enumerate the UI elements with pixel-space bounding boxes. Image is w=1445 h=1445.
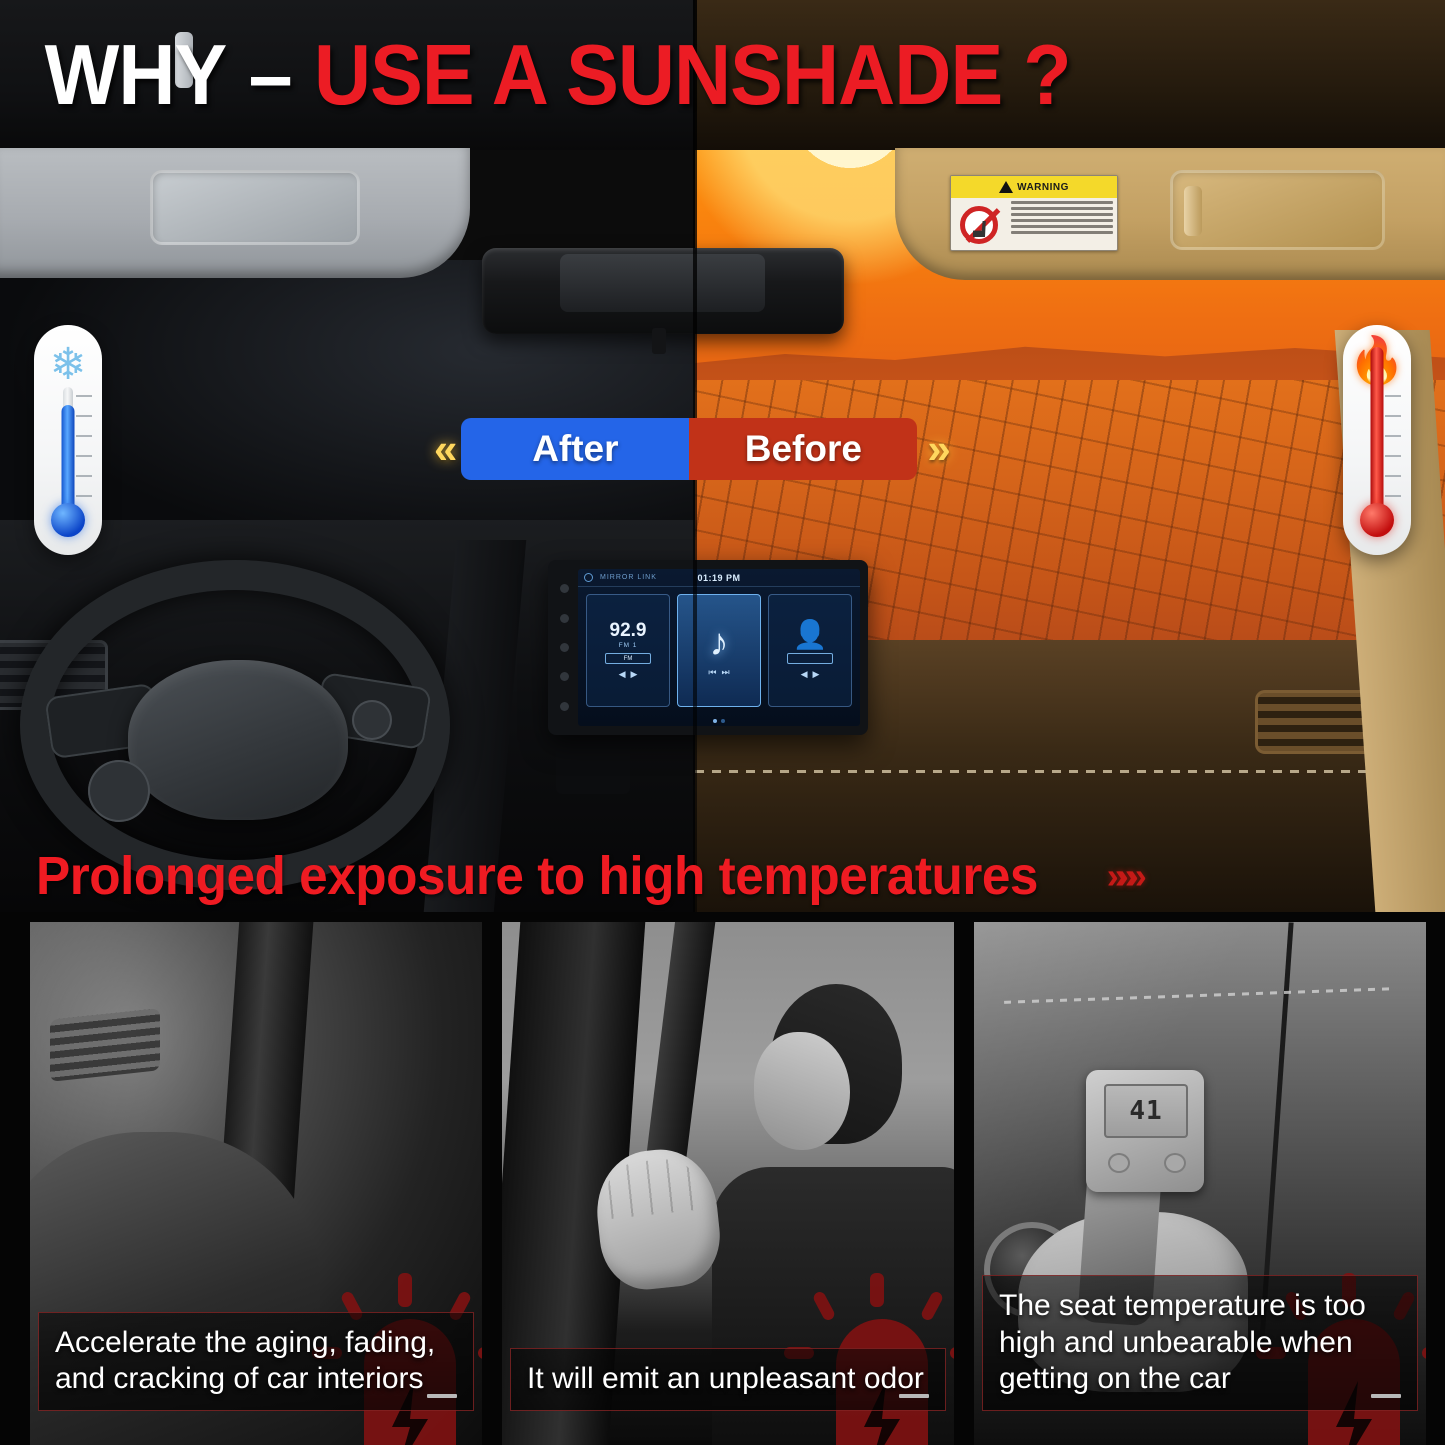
thermometer-fill-hot — [1371, 347, 1384, 515]
panel-seat-temperature: 41 The seat temperature is too high and … — [974, 922, 1426, 1445]
thermometer-bulb-hot — [1360, 503, 1394, 537]
headline-chevrons-icon: »»» — [1107, 855, 1137, 897]
thermometer-bulb-cold — [51, 503, 85, 537]
hot-thermometer: 🔥 — [1343, 325, 1411, 555]
rearview-mirror-housing — [560, 254, 765, 312]
caption-dash-3 — [1371, 1394, 1401, 1398]
warning-label-fineprint — [1007, 198, 1117, 251]
menu-button[interactable] — [560, 702, 569, 711]
panel-caption-text-3: The seat temperature is too high and unb… — [999, 1288, 1403, 1398]
steering-wheel-dpad — [88, 760, 150, 822]
person-face-2 — [754, 1032, 850, 1150]
benefit-panels: Accelerate the aging, fading, and cracki… — [0, 912, 1445, 1445]
panel-caption-2: It will emit an unpleasant odor — [510, 1348, 946, 1411]
panel-caption-text-1: Accelerate the aging, fading, and cracki… — [55, 1325, 459, 1398]
right-chevron-icon: » — [917, 428, 954, 470]
thermometer-ticks-hot — [1385, 395, 1401, 501]
steering-wheel-cruise-button — [352, 700, 392, 740]
cold-thermometer: ❄ — [34, 325, 102, 555]
person-icon: 👤 — [793, 621, 828, 649]
radio-frequency: 92.9 — [610, 621, 647, 640]
volume-button[interactable] — [560, 643, 569, 652]
panel-caption-text-2: It will emit an unpleasant odor — [527, 1361, 931, 1398]
media-transport-controls[interactable]: ⏮ ⏭ — [708, 667, 729, 678]
panel-interior-aging: Accelerate the aging, fading, and cracki… — [30, 922, 482, 1445]
power-button[interactable] — [560, 584, 569, 593]
warning-label-pictogram — [951, 198, 1007, 251]
page-indicator-dots[interactable] — [578, 719, 860, 723]
title-lead: WHY — [45, 33, 227, 118]
infotainment-head-unit[interactable]: MIRROR LINK 01:19 PM 92.9 FM 1 FM ◀ ▶ ♪ … — [548, 560, 868, 735]
head-unit-screen[interactable]: MIRROR LINK 01:19 PM 92.9 FM 1 FM ◀ ▶ ♪ … — [578, 569, 860, 726]
hero-split-comparison: WARNING — [0, 0, 1445, 912]
before-after-badges: « After Before » — [424, 418, 955, 480]
radio-tile[interactable]: 92.9 FM 1 FM ◀ ▶ — [586, 594, 670, 707]
profile-nav-controls[interactable]: ◀ ▶ — [801, 669, 820, 680]
radio-preset-button[interactable]: FM — [605, 653, 651, 664]
title-rest: USE A SUNSHADE ? — [314, 33, 1071, 118]
home-button[interactable] — [560, 614, 569, 623]
warning-label-body — [951, 198, 1117, 251]
thermometer-buttons[interactable] — [1108, 1146, 1186, 1180]
profile-tile[interactable]: 👤 ◀ ▶ — [768, 594, 852, 707]
head-unit-brand-label: MIRROR LINK — [600, 574, 657, 581]
steering-wheel-airbag-hub — [128, 660, 348, 820]
panel-caption-3: The seat temperature is too high and unb… — [982, 1275, 1418, 1411]
seat-stitching-3 — [1004, 987, 1396, 1004]
left-chevron-icon: « — [424, 428, 461, 470]
head-unit-tiles: 92.9 FM 1 FM ◀ ▶ ♪ ⏮ ⏭ 👤 ◀ ▶ — [578, 587, 860, 714]
warning-triangle-icon — [999, 181, 1013, 193]
caption-dash-1 — [427, 1394, 457, 1398]
after-badge: After — [461, 418, 689, 480]
panel-unpleasant-odor: It will emit an unpleasant odor — [502, 922, 954, 1445]
panel-caption-1: Accelerate the aging, fading, and cracki… — [38, 1312, 474, 1411]
radio-band: FM 1 — [619, 642, 638, 649]
snowflake-icon: ❄ — [50, 343, 87, 387]
connectivity-icon — [584, 573, 593, 582]
head-unit-status-bar: MIRROR LINK 01:19 PM — [578, 569, 860, 587]
radio-seek-controls[interactable]: ◀ ▶ — [619, 669, 638, 680]
page-title: WHY – USE A SUNSHADE ? — [0, 30, 1344, 120]
before-badge: Before — [689, 418, 917, 480]
back-button[interactable] — [560, 672, 569, 681]
airbag-warning-label: WARNING — [950, 175, 1118, 251]
thermometer-lcd: 41 — [1104, 1084, 1188, 1138]
media-tile[interactable]: ♪ ⏮ ⏭ — [677, 594, 761, 707]
visor-mirror-cover-right — [1170, 170, 1385, 250]
section-headline: Prolonged exposure to high temperatures … — [0, 836, 1445, 916]
rearview-mirror — [482, 248, 844, 334]
thermometer-reading: 41 — [1129, 1098, 1162, 1124]
no-child-seat-icon — [960, 206, 998, 244]
head-unit-side-buttons[interactable] — [556, 574, 572, 721]
infrared-thermometer: 41 — [1086, 1070, 1204, 1192]
thermometer-ticks-cold — [76, 395, 92, 501]
section-headline-text: Prolonged exposure to high temperatures — [36, 849, 1038, 903]
music-note-icon: ♪ — [710, 624, 729, 662]
warning-label-header: WARNING — [951, 176, 1117, 198]
infographic-root: WARNING — [0, 0, 1445, 1445]
profile-action-button[interactable] — [787, 653, 833, 664]
head-unit-clock: 01:19 PM — [697, 573, 740, 583]
caption-dash-2 — [899, 1394, 929, 1398]
dashboard-stitching — [695, 770, 1445, 773]
rearview-mirror-stalk — [652, 328, 666, 354]
title-dash: – — [249, 33, 292, 118]
sun-visor-left — [0, 148, 470, 278]
warning-label-text: WARNING — [1017, 182, 1069, 193]
thermometer-fill-cold — [62, 405, 75, 515]
